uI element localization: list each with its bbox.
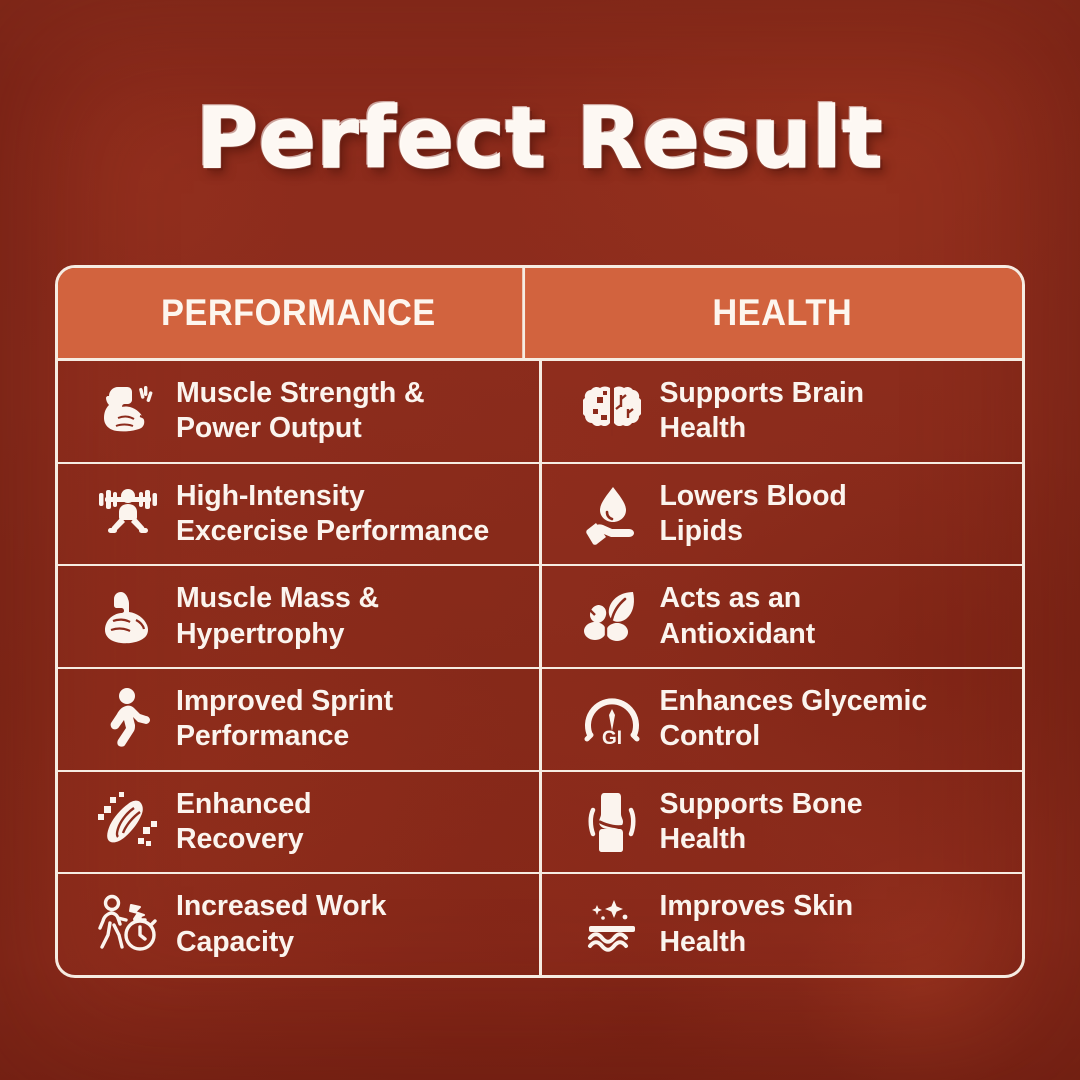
row-label: Enhances Glycemic Control — [660, 684, 1023, 755]
table-row: Muscle Mass & Hypertrophy — [58, 566, 539, 669]
leaf-capsules-icon — [564, 577, 660, 657]
row-label: High-Intensity Excercise Performance — [176, 479, 539, 550]
table-row: Supports Brain Health — [542, 361, 1023, 464]
table-row: Acts as an Antioxidant — [542, 566, 1023, 669]
table-row: Improves Skin Health — [542, 874, 1023, 975]
running-person-icon — [80, 679, 176, 759]
row-label: Improves Skin Health — [660, 889, 1023, 960]
benefits-table-card: PERFORMANCE HEALTH — [55, 265, 1025, 978]
table-row: Muscle Strength & Power Output — [58, 361, 539, 464]
row-label: Muscle Mass & Hypertrophy — [176, 581, 539, 652]
row-label: Acts as an Antioxidant — [660, 581, 1023, 652]
column-header-health: HEALTH — [558, 268, 1005, 358]
weightlifter-barbell-icon — [80, 474, 176, 554]
muscle-repair-icon — [80, 782, 176, 862]
row-label: Increased Work Capacity — [176, 889, 539, 960]
knee-joint-bone-icon — [564, 782, 660, 862]
table-row: Supports Bone Health — [542, 772, 1023, 875]
brain-icon — [564, 371, 660, 451]
skin-sparkle-icon — [564, 885, 660, 965]
row-label: Lowers Blood Lipids — [660, 479, 1023, 550]
walking-person-stopwatch-icon — [80, 885, 176, 965]
bicep-muscle-icon — [80, 577, 176, 657]
blood-drop-hand-icon — [564, 474, 660, 554]
table-row: GI Enhances Glycemic Control — [542, 669, 1023, 772]
column-header-performance: PERFORMANCE — [75, 268, 525, 358]
glycemic-index-gauge-icon: GI — [564, 679, 660, 759]
title-container: Perfect Result — [0, 96, 1080, 182]
table-body: Muscle Strength & Power Output — [58, 361, 1022, 975]
row-label: Muscle Strength & Power Output — [176, 376, 539, 447]
table-row: High-Intensity Excercise Performance — [58, 464, 539, 567]
health-column: Supports Brain Health Lowers Blood Lipid… — [542, 361, 1023, 975]
row-label: Improved Sprint Performance — [176, 684, 539, 755]
performance-column: Muscle Strength & Power Output — [58, 361, 542, 975]
table-header-row: PERFORMANCE HEALTH — [58, 268, 1022, 361]
row-label: Supports Bone Health — [660, 787, 1023, 858]
table-row: Lowers Blood Lipids — [542, 464, 1023, 567]
row-label: Enhanced Recovery — [176, 787, 539, 858]
page-title: Perfect Result — [196, 96, 883, 182]
flexing-biceps-icon — [80, 371, 176, 451]
table-row: Enhanced Recovery — [58, 772, 539, 875]
svg-text:GI: GI — [601, 728, 621, 749]
poster-canvas: Perfect Result PERFORMANCE HEALTH — [0, 0, 1080, 1080]
table-row: Improved Sprint Performance — [58, 669, 539, 772]
table-row: Increased Work Capacity — [58, 874, 539, 975]
row-label: Supports Brain Health — [660, 376, 1023, 447]
